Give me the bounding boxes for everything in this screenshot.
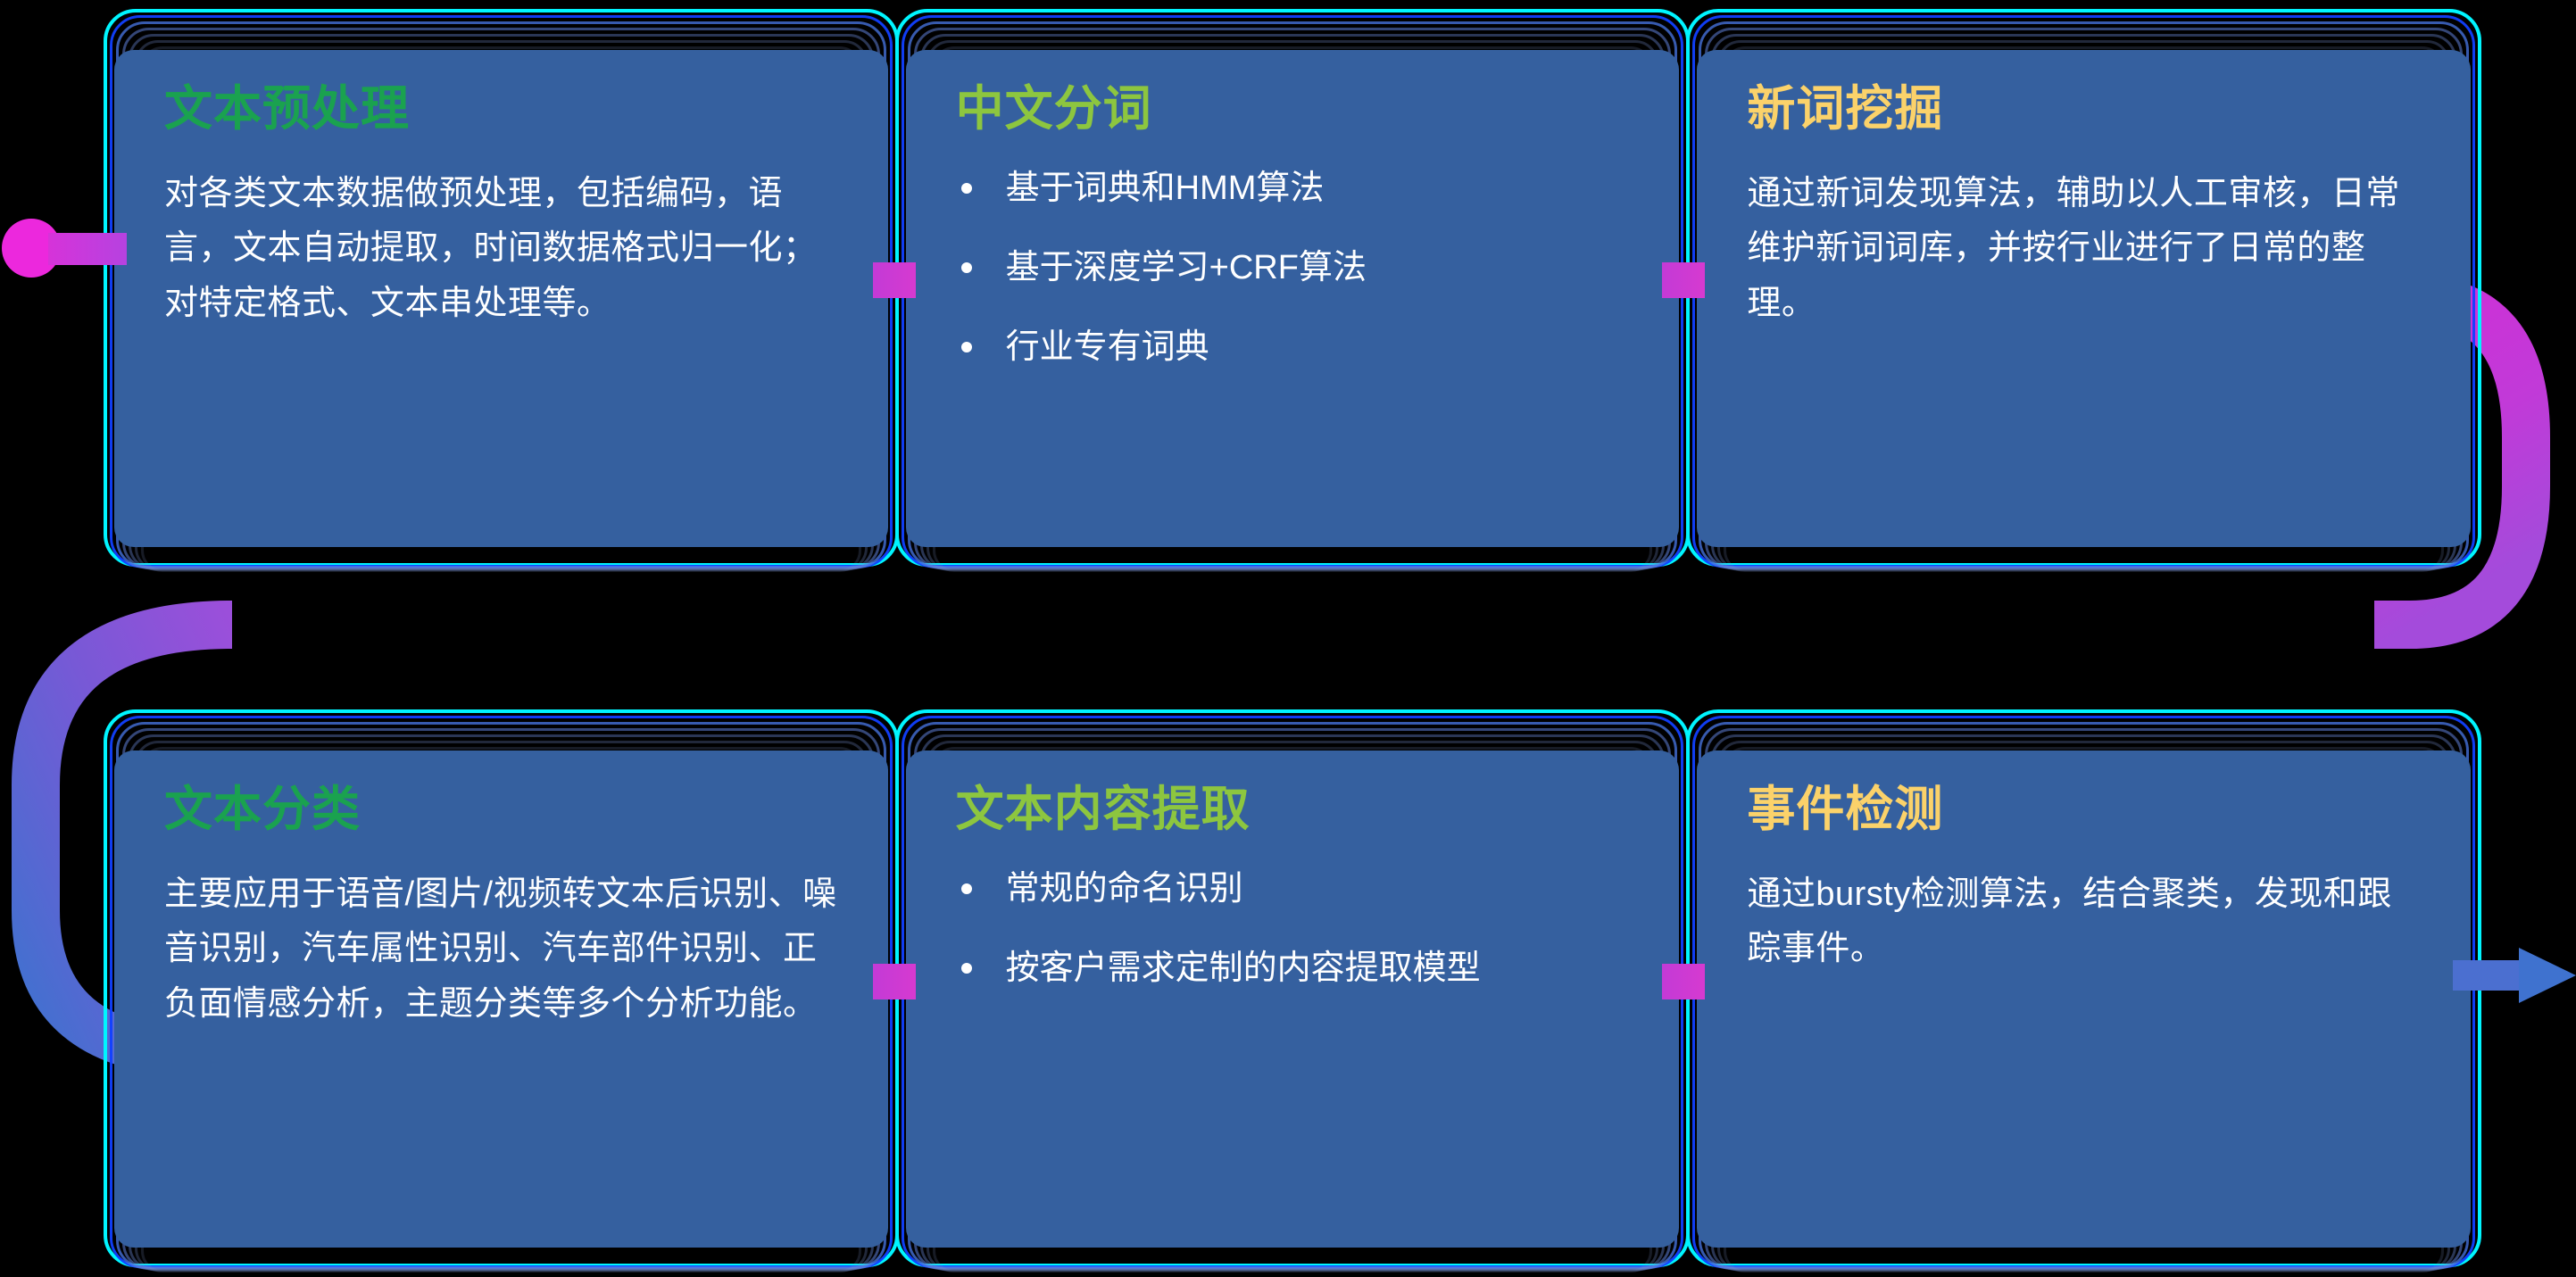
- connector-tab-bottom-2: [1662, 964, 1705, 999]
- bullet-dot-icon: [961, 183, 972, 194]
- card-bullet-list: 基于词典和HMM算法基于深度学习+CRF算法行业专有词典: [956, 167, 1630, 370]
- card-bullet-item: 基于深度学习+CRF算法: [956, 246, 1630, 290]
- card-bullet-item: 基于词典和HMM算法: [956, 167, 1630, 211]
- card-body: 通过bursty检测算法，结合聚类，发现和跟踪事件。: [1747, 867, 2421, 977]
- card-new-word-mining[interactable]: 新词挖掘通过新词发现算法，辅助以人工审核，日常维护新词词库，并按行业进行了日常的…: [1697, 9, 2471, 567]
- flow-start-stem: [48, 233, 127, 265]
- card-title: 文本分类: [164, 784, 838, 835]
- bullet-dot-icon: [961, 342, 972, 352]
- card-face: 文本内容提取常规的命名识别按客户需求定制的内容提取模型: [906, 750, 1680, 1248]
- card-title: 中文分词: [956, 84, 1630, 135]
- card-paragraph: 通过bursty检测算法，结合聚类，发现和跟踪事件。: [1747, 867, 2421, 977]
- card-face: 文本分类主要应用于语音/图片/视频转文本后识别、噪音识别，汽车属性识别、汽车部件…: [114, 750, 888, 1248]
- card-chinese-word-segmentation[interactable]: 中文分词基于词典和HMM算法基于深度学习+CRF算法行业专有词典: [906, 9, 1680, 567]
- card-bullet-item: 按客户需求定制的内容提取模型: [956, 947, 1630, 991]
- flow-end-stem: [2453, 960, 2524, 991]
- card-bullet-text: 常规的命名识别: [1006, 870, 1243, 908]
- card-body: 通过新词发现算法，辅助以人工审核，日常维护新词词库，并按行业进行了日常的整理。: [1747, 167, 2421, 332]
- card-text-content-extraction[interactable]: 文本内容提取常规的命名识别按客户需求定制的内容提取模型: [906, 709, 1680, 1267]
- card-paragraph: 对各类文本数据做预处理，包括编码，语言，文本自动提取，时间数据格式归一化；对特定…: [164, 167, 838, 332]
- card-face: 中文分词基于词典和HMM算法基于深度学习+CRF算法行业专有词典: [906, 50, 1680, 547]
- connector-tab-top-2: [1662, 262, 1705, 298]
- card-title: 新词挖掘: [1747, 84, 2421, 135]
- flow-end-head: [2519, 948, 2576, 1003]
- card-row-top: 文本预处理对各类文本数据做预处理，包括编码，语言，文本自动提取，时间数据格式归一…: [105, 9, 2480, 567]
- bullet-dot-icon: [961, 963, 972, 974]
- card-row-bottom: 文本分类主要应用于语音/图片/视频转文本后识别、噪音识别，汽车属性识别、汽车部件…: [105, 709, 2480, 1267]
- card-bullet-text: 行业专有词典: [1006, 328, 1209, 366]
- card-bullet-list: 常规的命名识别按客户需求定制的内容提取模型: [956, 867, 1630, 991]
- bullet-dot-icon: [961, 262, 972, 273]
- connector-tab-bottom-1: [873, 964, 916, 999]
- card-bullet-text: 基于深度学习+CRF算法: [1006, 249, 1367, 286]
- card-face: 事件检测通过bursty检测算法，结合聚类，发现和跟踪事件。: [1697, 750, 2471, 1248]
- flow-start-node: [2, 219, 134, 279]
- card-body: 主要应用于语音/图片/视频转文本后识别、噪音识别，汽车属性识别、汽车部件识别、正…: [164, 867, 838, 1032]
- flow-end-arrow-icon: [2453, 948, 2576, 1003]
- card-bullet-item: 行业专有词典: [956, 326, 1630, 369]
- card-bullet-item: 常规的命名识别: [956, 867, 1630, 911]
- card-title: 事件检测: [1747, 784, 2421, 835]
- bullet-dot-icon: [961, 883, 972, 894]
- connector-tab-top-1: [873, 262, 916, 298]
- card-text-classification[interactable]: 文本分类主要应用于语音/图片/视频转文本后识别、噪音识别，汽车属性识别、汽车部件…: [114, 709, 888, 1267]
- card-bullet-text: 按客户需求定制的内容提取模型: [1006, 949, 1481, 987]
- card-bullet-text: 基于词典和HMM算法: [1006, 170, 1325, 207]
- card-paragraph: 主要应用于语音/图片/视频转文本后识别、噪音识别，汽车属性识别、汽车部件识别、正…: [164, 867, 838, 1032]
- card-title: 文本内容提取: [956, 784, 1630, 835]
- card-title: 文本预处理: [164, 84, 838, 135]
- card-text-preprocessing[interactable]: 文本预处理对各类文本数据做预处理，包括编码，语言，文本自动提取，时间数据格式归一…: [114, 9, 888, 567]
- card-face: 新词挖掘通过新词发现算法，辅助以人工审核，日常维护新词词库，并按行业进行了日常的…: [1697, 50, 2471, 547]
- card-body: 对各类文本数据做预处理，包括编码，语言，文本自动提取，时间数据格式归一化；对特定…: [164, 167, 838, 332]
- card-event-detection[interactable]: 事件检测通过bursty检测算法，结合聚类，发现和跟踪事件。: [1697, 709, 2471, 1267]
- diagram-canvas: 文本预处理对各类文本数据做预处理，包括编码，语言，文本自动提取，时间数据格式归一…: [0, 0, 2576, 1277]
- card-face: 文本预处理对各类文本数据做预处理，包括编码，语言，文本自动提取，时间数据格式归一…: [114, 50, 888, 547]
- card-paragraph: 通过新词发现算法，辅助以人工审核，日常维护新词词库，并按行业进行了日常的整理。: [1747, 167, 2421, 332]
